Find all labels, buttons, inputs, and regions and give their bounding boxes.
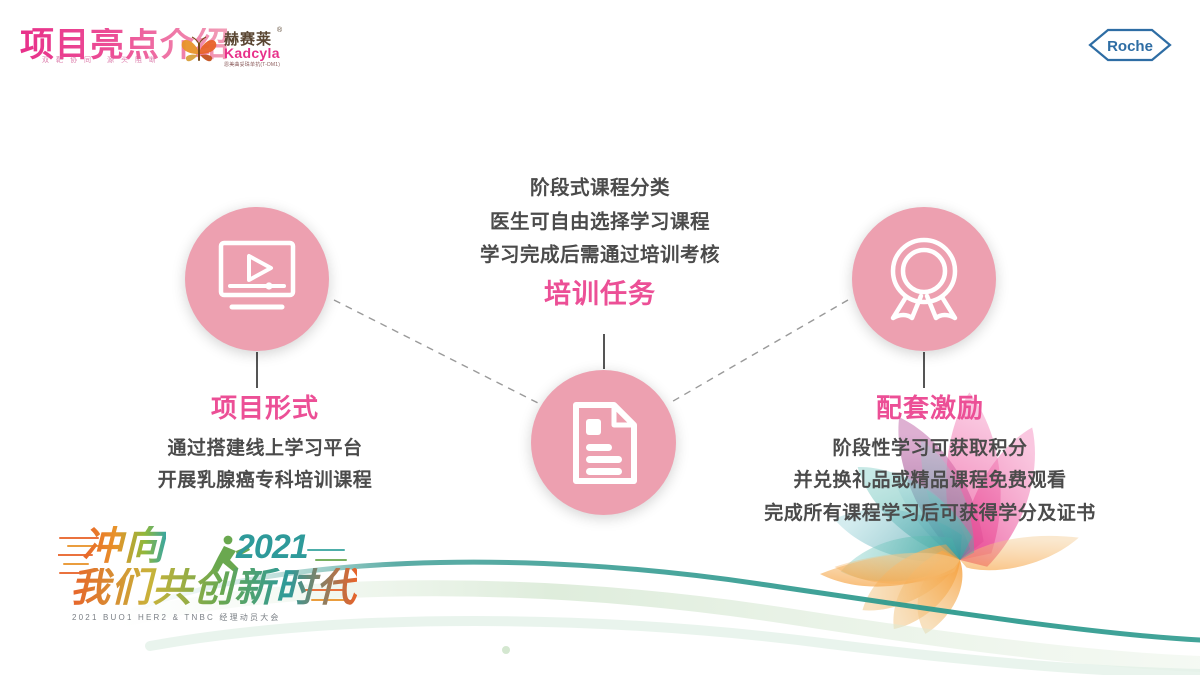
- center-line-1: 阶段式课程分类: [370, 172, 830, 206]
- campaign-logo: 冲向 2021 我们共创新时代 2021 BUO1 HER2 & TNBC 经理…: [58, 524, 348, 634]
- right-line-1: 阶段性学习可获取积分: [705, 433, 1155, 466]
- campaign-line-2: 我们共创新时代: [70, 568, 357, 608]
- campaign-year: 2021: [236, 530, 308, 564]
- left-line-2: 开展乳腺癌专科培训课程: [55, 465, 475, 498]
- connector-left-center: [334, 300, 540, 404]
- campaign-line-1: 冲向: [82, 526, 166, 566]
- campaign-subtitle: 2021 BUO1 HER2 & TNBC 经理动员大会: [72, 612, 281, 623]
- video-player-icon: [215, 239, 299, 319]
- node-right-circle[interactable]: [852, 207, 996, 351]
- slide-root: 项目亮点介绍 双靶协同 源头阻断 赫赛莱 ® Kadcyla 恩美曲妥珠单抗(T…: [0, 0, 1200, 675]
- node-left-circle[interactable]: [185, 207, 329, 351]
- left-line-1: 通过搭建线上学习平台: [55, 433, 475, 466]
- node-right-text: 配套激励 阶段性学习可获取积分 并兑换礼品或精品课程免费观看 完成所有课程学习后…: [705, 392, 1155, 531]
- right-line-2: 并兑换礼品或精品课程免费观看: [705, 465, 1155, 498]
- connector-right-center: [668, 300, 848, 404]
- center-heading: 培训任务: [370, 278, 830, 312]
- right-heading: 配套激励: [705, 392, 1155, 425]
- center-line-2: 医生可自由选择学习课程: [370, 206, 830, 240]
- award-medal-icon: [883, 236, 965, 322]
- center-line-3: 学习完成后需通过培训考核: [370, 239, 830, 273]
- node-center-text: 阶段式课程分类 医生可自由选择学习课程 学习完成后需通过培训考核 培训任务: [370, 172, 830, 311]
- node-left-text: 项目形式 通过搭建线上学习平台 开展乳腺癌专科培训课程: [55, 392, 475, 498]
- right-line-3: 完成所有课程学习后可获得学分及证书: [705, 498, 1155, 531]
- left-heading: 项目形式: [55, 392, 475, 425]
- document-icon: [566, 399, 642, 487]
- node-center-circle[interactable]: [531, 370, 676, 515]
